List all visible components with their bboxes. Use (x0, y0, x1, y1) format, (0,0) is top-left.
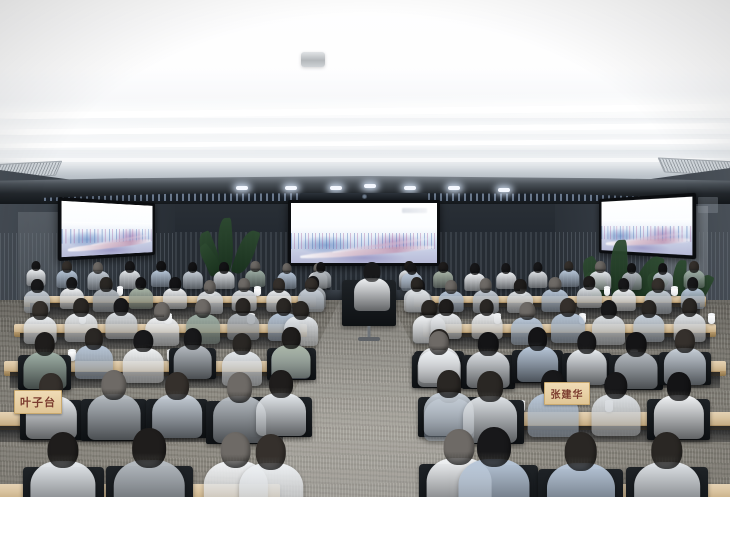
person-head (514, 279, 526, 294)
person-head (100, 277, 113, 292)
person-head (305, 278, 318, 293)
person-head (626, 332, 647, 356)
person-head (687, 277, 699, 291)
person-head (363, 262, 380, 282)
person-head (133, 428, 167, 468)
potted-plant-left (208, 212, 250, 274)
person-head (411, 277, 424, 292)
downlight-icon (448, 186, 460, 190)
person-head (560, 298, 576, 317)
person-head (85, 328, 103, 350)
person-head (93, 262, 103, 274)
person-head (154, 302, 170, 321)
person-head (533, 262, 542, 273)
person-head (689, 261, 699, 273)
person-head (32, 301, 48, 319)
person-head (251, 261, 260, 272)
person-head (282, 263, 291, 274)
person-torso (354, 278, 390, 311)
ceiling-light-strip (0, 158, 730, 162)
person-torso (592, 315, 626, 345)
person-head (618, 278, 630, 292)
person-head (293, 301, 309, 320)
person-torso (106, 312, 137, 339)
ceiling-band (0, 150, 730, 158)
person-head (600, 300, 616, 319)
person-head (627, 263, 637, 275)
person-head (256, 434, 286, 470)
person-head (479, 299, 494, 316)
chair-base (358, 337, 380, 341)
person-head (445, 280, 457, 294)
person-head (682, 298, 698, 316)
person-head (169, 277, 181, 291)
person-head (31, 261, 40, 272)
person-head (183, 328, 201, 350)
person-head (439, 299, 454, 316)
person-head (548, 277, 561, 292)
person-head (652, 278, 665, 293)
person-head (236, 298, 251, 316)
person-head (269, 370, 293, 398)
person-head (583, 276, 595, 290)
person-torso (123, 348, 164, 383)
person-head (282, 327, 301, 349)
person-head (477, 427, 511, 467)
main-display-content (291, 203, 437, 263)
conference-room-photo: 叶子台 张建华 (0, 0, 730, 497)
person-head (62, 261, 72, 273)
person-head (577, 331, 596, 354)
person-head (478, 371, 504, 401)
downlight-icon (364, 184, 376, 188)
person-head (651, 432, 682, 469)
person-head (195, 299, 211, 318)
person-head (478, 332, 498, 356)
person-head (444, 429, 475, 466)
person-head (34, 332, 55, 356)
person-head (520, 302, 535, 320)
drinking-cup (671, 288, 678, 296)
left-side-display[interactable] (58, 197, 155, 261)
person-torso (213, 271, 234, 289)
person-head (135, 277, 146, 291)
person-head (114, 298, 129, 316)
person-torso (182, 271, 202, 289)
person-torso (88, 394, 141, 440)
person-torso (591, 394, 640, 437)
person-head (429, 331, 449, 355)
person-head (667, 372, 691, 400)
person-torso (496, 272, 516, 289)
person-torso (151, 270, 171, 288)
person-head (227, 372, 253, 402)
person-torso (528, 271, 547, 288)
person-head (479, 278, 492, 293)
drinking-cup (708, 315, 715, 324)
person-torso (256, 393, 306, 436)
ceiling-speaker-icon (301, 52, 325, 67)
person-head (73, 298, 89, 317)
person-head (273, 278, 285, 292)
person-head (238, 278, 250, 292)
person-torso (129, 288, 153, 309)
person-head (125, 261, 135, 273)
screenshot-root: 叶子台 张建华 (0, 0, 730, 548)
downlight-icon (285, 186, 297, 190)
person-torso (559, 270, 579, 287)
person-head (528, 327, 548, 351)
downlight-icon (404, 186, 416, 190)
downlight-icon (236, 186, 248, 190)
person-head (220, 432, 251, 468)
nameplate-front-left: 叶子台 (14, 390, 62, 414)
person-head (604, 372, 627, 400)
person-head (31, 279, 43, 294)
person-head (232, 333, 251, 356)
person-head (437, 370, 461, 398)
person-head (407, 263, 417, 275)
ceiling (0, 0, 730, 200)
person-head (101, 370, 126, 400)
screen-watermark-logo (402, 208, 427, 212)
person-head (188, 262, 198, 273)
downlight-icon (330, 186, 342, 190)
wall-sign (698, 197, 718, 213)
person-head (204, 280, 216, 295)
camera-icon (361, 194, 368, 199)
person-head (66, 277, 78, 291)
person-head (219, 262, 229, 274)
person-head (165, 372, 189, 400)
downlight-icon (498, 188, 510, 192)
main-led-wall[interactable] (288, 200, 440, 266)
person-head (156, 261, 166, 272)
person-head (134, 330, 153, 353)
nameplate-front-right: 张建华 (544, 382, 590, 405)
left-display-content (62, 201, 153, 257)
person-torso (567, 349, 608, 384)
white-letterbox (0, 497, 730, 548)
person-head (564, 432, 597, 470)
person-head (501, 263, 510, 274)
person-head (642, 300, 657, 318)
person-torso (577, 287, 601, 308)
person-head (675, 329, 695, 353)
person-head (470, 263, 480, 275)
person-head (48, 432, 79, 469)
person-head (658, 263, 668, 274)
